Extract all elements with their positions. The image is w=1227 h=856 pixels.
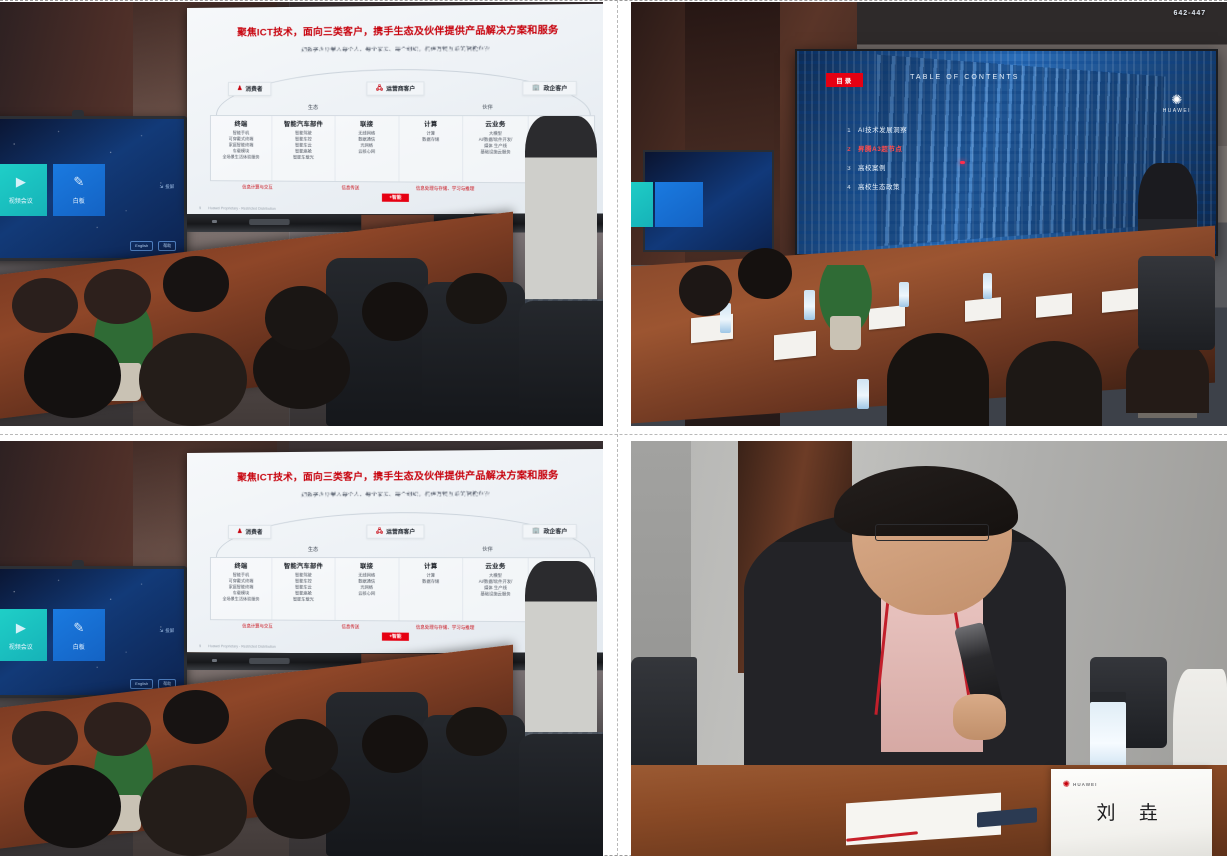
customer-consumer: ♟ 消费者 bbox=[228, 82, 272, 96]
band-ecosystem: 生态 bbox=[308, 546, 318, 553]
name-plate-name: 刘 垚 bbox=[1051, 798, 1212, 825]
customer-enterprise: 🏢 政企客户 bbox=[523, 81, 577, 96]
meeting-room-background: ▶ 视频会议 ✎ 白板 ⇲ 投屏 English 帮助 bbox=[0, 2, 603, 426]
panel-bottom-left: ▶ 视频会议 ✎ 白板 ⇲ 投屏 English 帮助 bbox=[0, 441, 603, 856]
office-chair bbox=[519, 301, 603, 426]
caption-transmit: 信息传送 bbox=[304, 185, 398, 192]
column-terminal: 终端 智能手机 可穿戴式终端 家庭智能终端 车载模块 全场景生活体验服务 bbox=[210, 558, 272, 620]
conference-room-background: 642-447 目录 TABLE OF CONTENTS 1 AI技术发展洞察 … bbox=[631, 2, 1227, 426]
column-cloud: 云业务 大模型 AI/数据/软件开发/ 媒体 生产线 基础设施云服务 bbox=[463, 116, 528, 182]
huawei-wordmark: HUAWEI bbox=[1163, 108, 1191, 114]
display-camera-icon bbox=[72, 110, 84, 116]
huawei-wordmark: HUAWEI bbox=[1073, 782, 1097, 787]
audience-head bbox=[139, 765, 248, 856]
pen-icon: ✎ bbox=[73, 620, 84, 636]
cast-icon: ⇲ bbox=[160, 628, 164, 634]
consumer-icon: ♟ bbox=[237, 529, 242, 535]
water-bottle bbox=[983, 273, 993, 298]
attendee-head bbox=[1006, 341, 1101, 426]
bezel-speaker bbox=[249, 658, 289, 664]
band-partner: 伙伴 bbox=[482, 104, 493, 111]
toc-item-1: 1 AI技术发展洞察 bbox=[847, 124, 907, 134]
customer-enterprise: 🏢 政企客户 bbox=[523, 524, 577, 539]
slide-legal-footer: 5 Huawei Proprietary - Restricted Distri… bbox=[199, 645, 276, 650]
tile-video-conference[interactable]: ▶ 视频会议 bbox=[0, 609, 47, 661]
pen-icon: ✎ bbox=[73, 174, 84, 190]
tile-whiteboard[interactable]: ✎ 白板 bbox=[53, 609, 105, 661]
office-chair bbox=[1138, 256, 1215, 349]
audience-head bbox=[362, 715, 428, 773]
column-computing-header: 计算 bbox=[400, 119, 461, 128]
carrier-icon: 🖧 bbox=[376, 529, 383, 535]
closeup-room-background: ✺ HUAWEI 刘 垚 bbox=[631, 441, 1227, 856]
band-partner: 伙伴 bbox=[482, 546, 493, 553]
side-display bbox=[643, 150, 774, 252]
ai-badge: +智能 bbox=[382, 194, 409, 202]
audience-head bbox=[24, 765, 120, 848]
huawei-flower-icon: ✺ bbox=[1171, 93, 1182, 106]
display-cast-label[interactable]: ⇲ 投屏 bbox=[160, 628, 175, 634]
panel-top-left: ▶ 视频会议 ✎ 白板 ⇲ 投屏 English 帮助 bbox=[0, 2, 603, 426]
audience-head bbox=[163, 256, 229, 311]
carrier-icon: 🖧 bbox=[376, 86, 383, 92]
speaker-hand bbox=[953, 694, 1007, 740]
bezel-speaker bbox=[249, 219, 289, 225]
vertical-separator bbox=[617, 0, 618, 856]
huawei-logo: ✺ HUAWEI bbox=[1062, 780, 1097, 789]
horizontal-separator bbox=[0, 434, 1227, 435]
slide-copyright: Huawei Proprietary - Restricted Distribu… bbox=[208, 206, 276, 211]
photo-collage: ▶ 视频会议 ✎ 白板 ⇲ 投屏 English 帮助 bbox=[0, 0, 1227, 856]
tile-video-conference-label: 视频会议 bbox=[9, 196, 33, 205]
audience-head bbox=[446, 273, 506, 324]
name-card bbox=[1102, 288, 1138, 313]
audience-head bbox=[12, 711, 78, 765]
slide-title: 聚焦ICT技术，面向三类客户，携手生态及伙伴提供产品解决方案和服务 bbox=[203, 26, 594, 40]
glasses-icon bbox=[875, 524, 988, 541]
office-chair bbox=[326, 258, 429, 426]
slide-subtitle: 把数字世界带入每个人、每个家庭、每个组织，构建万物互联的智能世界 bbox=[202, 44, 596, 54]
column-connectivity-header: 联接 bbox=[336, 119, 397, 128]
water-bottle bbox=[899, 282, 909, 307]
band-ecosystem: 生态 bbox=[308, 104, 318, 111]
name-card bbox=[1036, 293, 1072, 318]
office-chair bbox=[326, 692, 429, 856]
laser-pointer-dot bbox=[960, 161, 965, 164]
bezel-camera-icon bbox=[211, 220, 216, 223]
attendee-head bbox=[679, 265, 733, 316]
caption-compute-interact: 信息计算与交互 bbox=[211, 185, 303, 192]
server-racks-graphic bbox=[877, 55, 1165, 247]
customer-carrier-label: 运营商客户 bbox=[386, 85, 415, 93]
audience-head bbox=[265, 286, 337, 350]
column-cloud: 云业务 大模型 AI/数据/软件开发/ 媒体 生产线 基础设施云服务 bbox=[463, 558, 528, 622]
customer-row: ♟ 消费者 🖧 运营商客户 🏢 政企客户 bbox=[228, 524, 577, 539]
column-computing: 计算 计算 数据存储 bbox=[399, 116, 463, 182]
column-auto-parts: 智能汽车部件 智能驾驶 智能车控 智能车云 智能座舱 智能车载光 bbox=[273, 116, 336, 181]
toc-list: 1 AI技术发展洞察 2 昇腾A3超节点 3 高校案例 4 高校生态政策 bbox=[847, 124, 907, 191]
room-number-label: 642-447 bbox=[1173, 10, 1206, 17]
collage-top-edge bbox=[0, 0, 1227, 1]
meeting-room-background: ▶ 视频会议 ✎ 白板 ⇲ 投屏 English 帮助 bbox=[0, 441, 603, 856]
tile-whiteboard[interactable]: ✎ 白板 bbox=[53, 164, 105, 216]
name-card bbox=[965, 297, 1001, 322]
customer-row: ♟ 消费者 🖧 运营商客户 🏢 政企客户 bbox=[228, 81, 577, 96]
column-connectivity: 联接 无线网络 数据通信 光网络 云核心网 bbox=[335, 116, 399, 181]
video-camera-icon: ▶ bbox=[16, 174, 26, 190]
customer-consumer-label: 消费者 bbox=[245, 85, 262, 93]
customer-enterprise-label: 政企客户 bbox=[543, 84, 567, 92]
enterprise-icon: 🏢 bbox=[532, 86, 540, 92]
band-row: 生态 伙伴 bbox=[228, 546, 577, 553]
attendee-head bbox=[738, 248, 792, 299]
toc-item-2: 2 昇腾A3超节点 bbox=[847, 143, 907, 153]
display-tiles: ▶ 视频会议 ✎ 白板 bbox=[0, 609, 105, 661]
huawei-logo: ✺ HUAWEI bbox=[1163, 93, 1191, 114]
column-auto-parts-header: 智能汽车部件 bbox=[274, 119, 334, 128]
column-auto-parts: 智能汽车部件 智能驾驶 智能车控 智能车云 智能座舱 智能车载光 bbox=[273, 558, 336, 621]
audience-head bbox=[446, 707, 506, 757]
audience-head bbox=[24, 333, 120, 418]
audience-head bbox=[362, 282, 428, 341]
panel-top-right: 642-447 目录 TABLE OF CONTENTS 1 AI技术发展洞察 … bbox=[631, 2, 1227, 426]
band-row: 生态 伙伴 bbox=[228, 104, 577, 111]
tile-video-conference-label: 视频会议 bbox=[9, 642, 33, 651]
slide-legal-footer: 5 Huawei Proprietary - Restricted Distri… bbox=[199, 206, 276, 211]
bezel-camera-icon bbox=[211, 659, 216, 662]
display-tiles: ▶ 视频会议 ✎ 白板 bbox=[0, 164, 105, 216]
enterprise-icon: 🏢 bbox=[532, 528, 540, 534]
customer-carrier: 🖧 运营商客户 bbox=[367, 82, 425, 96]
caption-process-store: 信息处理与存储、学习与推理 bbox=[397, 186, 493, 193]
display-camera-icon bbox=[72, 560, 84, 566]
audience-head bbox=[163, 690, 229, 744]
column-terminal-header: 终端 bbox=[211, 119, 270, 128]
tile-video-conference bbox=[631, 182, 653, 227]
name-plate: ✺ HUAWEI 刘 垚 bbox=[1051, 769, 1212, 856]
slide-title: 聚焦ICT技术，面向三类客户，携手生态及伙伴提供产品解决方案和服务 bbox=[203, 471, 594, 485]
audience-head bbox=[139, 333, 248, 426]
tile-whiteboard-label: 白板 bbox=[73, 196, 85, 205]
toc-item-3: 3 高校案例 bbox=[847, 162, 907, 172]
huawei-flower-icon: ✺ bbox=[1062, 780, 1070, 789]
column-connectivity: 联接 无线网络 数据通信 光网络 云核心网 bbox=[335, 558, 399, 621]
tile-video-conference[interactable]: ▶ 视频会议 bbox=[0, 164, 47, 216]
tile-whiteboard bbox=[655, 182, 703, 227]
audience-head bbox=[84, 269, 150, 324]
column-cloud-header: 云业务 bbox=[464, 120, 526, 129]
customer-consumer: ♟ 消费者 bbox=[228, 525, 272, 539]
panel-bottom-right: ✺ HUAWEI 刘 垚 bbox=[631, 441, 1227, 856]
slide-subtitle: 把数字世界带入每个人、每个家庭、每个组织，构建万物互联的智能世界 bbox=[202, 489, 596, 499]
audience-head bbox=[265, 719, 337, 781]
audience-head bbox=[84, 702, 150, 756]
attendee-head bbox=[887, 333, 988, 426]
office-chair bbox=[519, 734, 603, 856]
toc-heading: TABLE OF CONTENTS bbox=[910, 74, 1019, 81]
potted-plant bbox=[810, 265, 882, 350]
customer-carrier: 🖧 运营商客户 bbox=[367, 524, 425, 538]
audience-head bbox=[12, 278, 78, 333]
toc-tag: 目录 bbox=[826, 73, 863, 87]
display-cast-label[interactable]: ⇲ 投屏 bbox=[160, 184, 175, 190]
slide-page-number: 5 bbox=[199, 206, 201, 210]
column-terminal: 终端 智能手机 可穿戴式终端 家庭智能终端 车载模块 全场景生活体验服务 bbox=[210, 116, 272, 180]
tile-whiteboard-label: 白板 bbox=[73, 642, 85, 651]
column-computing: 计算 计算 数据存储 bbox=[399, 558, 463, 621]
video-camera-icon: ▶ bbox=[16, 620, 26, 636]
water-bottle bbox=[857, 379, 869, 409]
toc-item-4: 4 高校生态政策 bbox=[847, 181, 907, 191]
ai-badge: +智能 bbox=[382, 633, 409, 641]
consumer-icon: ♟ bbox=[237, 86, 242, 92]
cast-icon: ⇲ bbox=[160, 184, 164, 190]
